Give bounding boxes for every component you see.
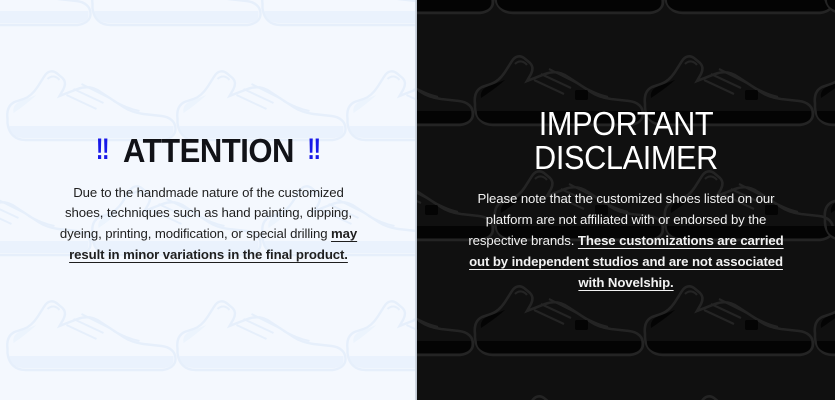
disclaimer-content: IMPORTANT DISCLAIMER Please note that th… (417, 107, 835, 294)
attention-heading-text: ATTENTION (123, 134, 294, 168)
panel-divider (415, 0, 417, 400)
attention-body-plain: Due to the handmade nature of the custom… (60, 185, 352, 242)
attention-body: Due to the handmade nature of the custom… (54, 183, 364, 266)
attention-heading: ‼ ATTENTION ‼ (37, 134, 380, 168)
disclaimer-heading-line2: DISCLAIMER (456, 141, 796, 175)
disclaimer-heading: IMPORTANT DISCLAIMER (456, 107, 796, 176)
double-exclamation-left-icon: ‼ (96, 135, 109, 166)
disclaimer-heading-line1: IMPORTANT (456, 107, 796, 141)
attention-content: ‼ ATTENTION ‼ Due to the handmade nature… (0, 134, 417, 266)
double-exclamation-right-icon: ‼ (308, 135, 321, 166)
disclaimer-panel: IMPORTANT DISCLAIMER Please note that th… (417, 0, 835, 400)
disclaimer-body: Please note that the customized shoes li… (465, 189, 787, 293)
attention-panel: ‼ ATTENTION ‼ Due to the handmade nature… (0, 0, 417, 400)
disclaimer-banner: ‼ ATTENTION ‼ Due to the handmade nature… (0, 0, 835, 400)
